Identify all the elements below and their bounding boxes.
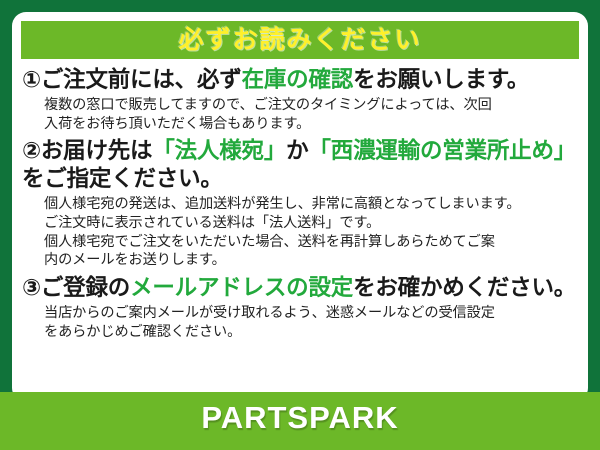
heading-segment: ①ご注文前には、必ず [22, 67, 242, 92]
detail-line: 当店からのご案内メールが受け取れるよう、迷惑メールなどの受信設定 [44, 304, 578, 323]
detail-line: 内のメールをお送りします。 [44, 251, 578, 270]
detail-line: ご注文時に表示されている送料は「法人送料」です。 [44, 214, 578, 233]
notice-list: ①ご注文前には、必ず在庫の確認をお願いします。 複数の窓口で販売してますので、ご… [12, 59, 588, 342]
heading-segment: ②お届け先は [22, 138, 152, 163]
notice-banner: 必ずお読みください ①ご注文前には、必ず在庫の確認をお願いします。 複数の窓口で… [0, 0, 600, 450]
footer-bar: PARTSPARK [0, 392, 600, 450]
notice-item-2-detail: 個人様宅宛の発送は、追加送料が発生し、非常に高額となってしまいます。 ご注文時に… [44, 195, 578, 271]
heading-highlight: 在庫の確認 [242, 67, 354, 92]
notice-title: 必ずお読みください [21, 21, 579, 59]
detail-line: 個人様宅宛でご注文をいただいた場合、送料を再計算しあらためてご案 [44, 233, 578, 252]
notice-item-1-detail: 複数の窓口で販売してますので、ご注文のタイミングによっては、次回 入荷をお待ち頂… [44, 96, 578, 134]
heading-segment: をお願いします。 [353, 67, 529, 92]
detail-line: 入荷をお待ち頂いただく場合もあります。 [44, 115, 578, 134]
detail-line: をあらかじめご確認ください。 [44, 323, 578, 342]
heading-highlight: 「西濃運輸の営業所止め」 [308, 138, 576, 163]
title-banner: 必ずお読みください [21, 21, 579, 59]
heading-segment: をお確かめください。 [353, 275, 576, 300]
heading-highlight: メールアドレスの設定 [130, 275, 353, 300]
notice-item-2-heading: ②お届け先は「法人様宛」か「西濃運輸の営業所止め」をご指定ください。 [22, 137, 578, 192]
partspark-logo: PARTSPARK [0, 392, 600, 450]
heading-segment: をご指定ください。 [22, 166, 223, 191]
notice-item-1-heading: ①ご注文前には、必ず在庫の確認をお願いします。 [22, 66, 578, 94]
heading-segment: か [286, 138, 308, 163]
notice-item-3-detail: 当店からのご案内メールが受け取れるよう、迷惑メールなどの受信設定 をあらかじめご… [44, 304, 578, 342]
notice-item-3: ③ご登録のメールアドレスの設定をお確かめください。 当店からのご案内メールが受け… [22, 274, 578, 341]
detail-line: 個人様宅宛の発送は、追加送料が発生し、非常に高額となってしまいます。 [44, 195, 578, 214]
notice-item-2: ②お届け先は「法人様宛」か「西濃運輸の営業所止め」をご指定ください。 個人様宅宛… [22, 137, 578, 270]
heading-segment: ③ご登録の [22, 275, 130, 300]
notice-item-1: ①ご注文前には、必ず在庫の確認をお願いします。 複数の窓口で販売してますので、ご… [22, 66, 578, 133]
notice-card: 必ずお読みください ①ご注文前には、必ず在庫の確認をお願いします。 複数の窓口で… [12, 12, 588, 402]
detail-line: 複数の窓口で販売してますので、ご注文のタイミングによっては、次回 [44, 96, 578, 115]
notice-item-3-heading: ③ご登録のメールアドレスの設定をお確かめください。 [22, 274, 578, 302]
heading-highlight: 「法人様宛」 [152, 138, 286, 163]
